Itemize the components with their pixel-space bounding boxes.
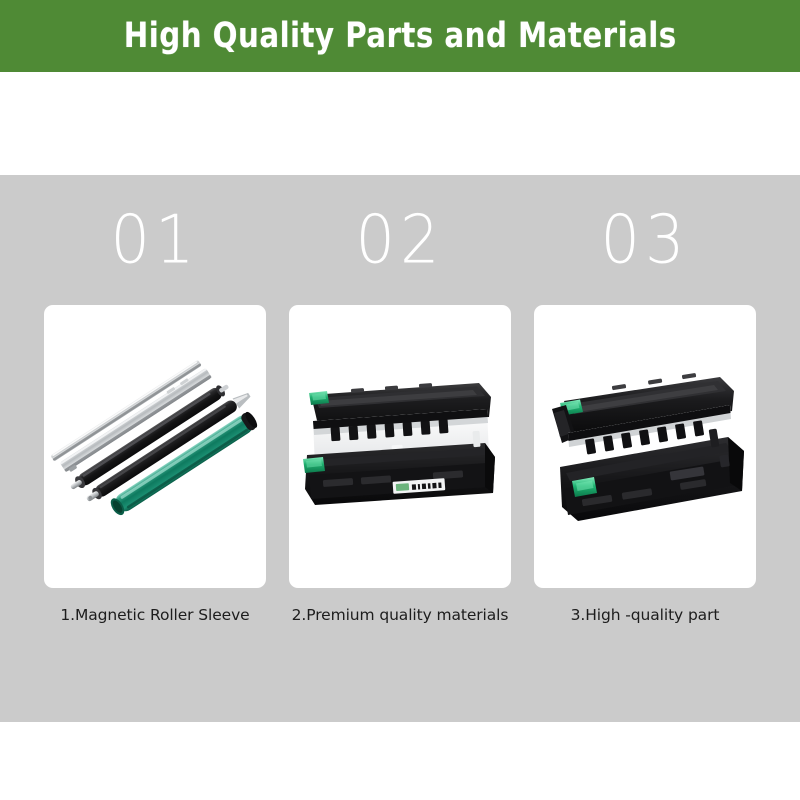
product-image-magnetic-roller-sleeve (44, 305, 266, 588)
step-number-01: 01 (111, 207, 200, 274)
product-cards-row (44, 305, 756, 588)
caption-text-1: 1.Magnetic Roller Sleeve (60, 606, 249, 624)
footer-spacer (0, 722, 800, 800)
step-number-03: 03 (601, 207, 690, 274)
product-card-2[interactable] (289, 305, 511, 588)
step-number-cell-1: 01 (44, 205, 266, 275)
caption-cell-2: 2.Premium quality materials (289, 598, 511, 632)
caption-cell-1: 1.Magnetic Roller Sleeve (44, 598, 266, 632)
product-card-1[interactable] (44, 305, 266, 588)
caption-text-2: 2.Premium quality materials (292, 606, 509, 624)
product-card-3[interactable] (534, 305, 756, 588)
header-spacer (0, 72, 800, 175)
step-number-02: 02 (356, 207, 445, 274)
caption-cell-3: 3.High -quality part (534, 598, 756, 632)
product-image-drum-unit-angled (534, 305, 756, 588)
captions-row: 1.Magnetic Roller Sleeve 2.Premium quali… (44, 598, 756, 632)
product-image-drum-unit-front (289, 305, 511, 588)
header-banner: High Quality Parts and Materials (0, 0, 800, 72)
caption-text-3: 3.High -quality part (571, 606, 720, 624)
page-title: High Quality Parts and Materials (124, 16, 677, 56)
step-number-cell-3: 03 (534, 205, 756, 275)
step-number-cell-2: 02 (289, 205, 511, 275)
step-numbers-row: 01 02 03 (44, 205, 756, 275)
